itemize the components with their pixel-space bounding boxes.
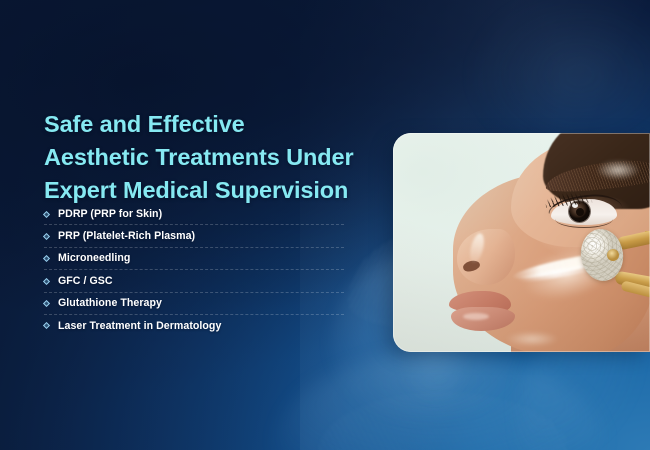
roller-stone-head [578,226,627,283]
list-item: PRP (Platelet-Rich Plasma) [44,225,344,247]
lip-highlight [463,313,489,320]
list-item-label: PRP (Platelet-Rich Plasma) [58,230,195,242]
list-item: Microneedling [44,248,344,270]
face-illustration [393,133,650,352]
headline-line-2: Aesthetic Treatments Under [44,141,389,174]
diamond-bullet-icon [43,255,50,262]
diamond-bullet-icon [43,300,50,307]
roller-pin [607,249,619,261]
portrait-photo [393,133,650,352]
diamond-bullet-icon [43,278,50,285]
promotional-banner: Safe and Effective Aesthetic Treatments … [0,0,650,450]
treatment-photo-card [393,133,650,352]
list-item-label: Glutathione Therapy [58,297,162,309]
headline-line-1: Safe and Effective [44,108,389,141]
list-item-label: PDRP (PRP for Skin) [58,208,162,220]
page-title: Safe and Effective Aesthetic Treatments … [44,108,389,207]
list-item-label: GFC / GSC [58,275,113,287]
chin-highlight [497,329,567,349]
text-content-column: Safe and Effective Aesthetic Treatments … [44,0,394,450]
temple-highlight [589,157,647,183]
list-item: Laser Treatment in Dermatology [44,315,344,337]
list-item-label: Microneedling [58,252,130,264]
treatment-list: PDRP (PRP for Skin) PRP (Platelet-Rich P… [44,203,344,337]
list-item: PDRP (PRP for Skin) [44,203,344,225]
list-item-label: Laser Treatment in Dermatology [58,320,221,332]
list-item: GFC / GSC [44,270,344,292]
diamond-bullet-icon [43,233,50,240]
list-item: Glutathione Therapy [44,293,344,315]
diamond-bullet-icon [43,322,50,329]
diamond-bullet-icon [43,210,50,217]
